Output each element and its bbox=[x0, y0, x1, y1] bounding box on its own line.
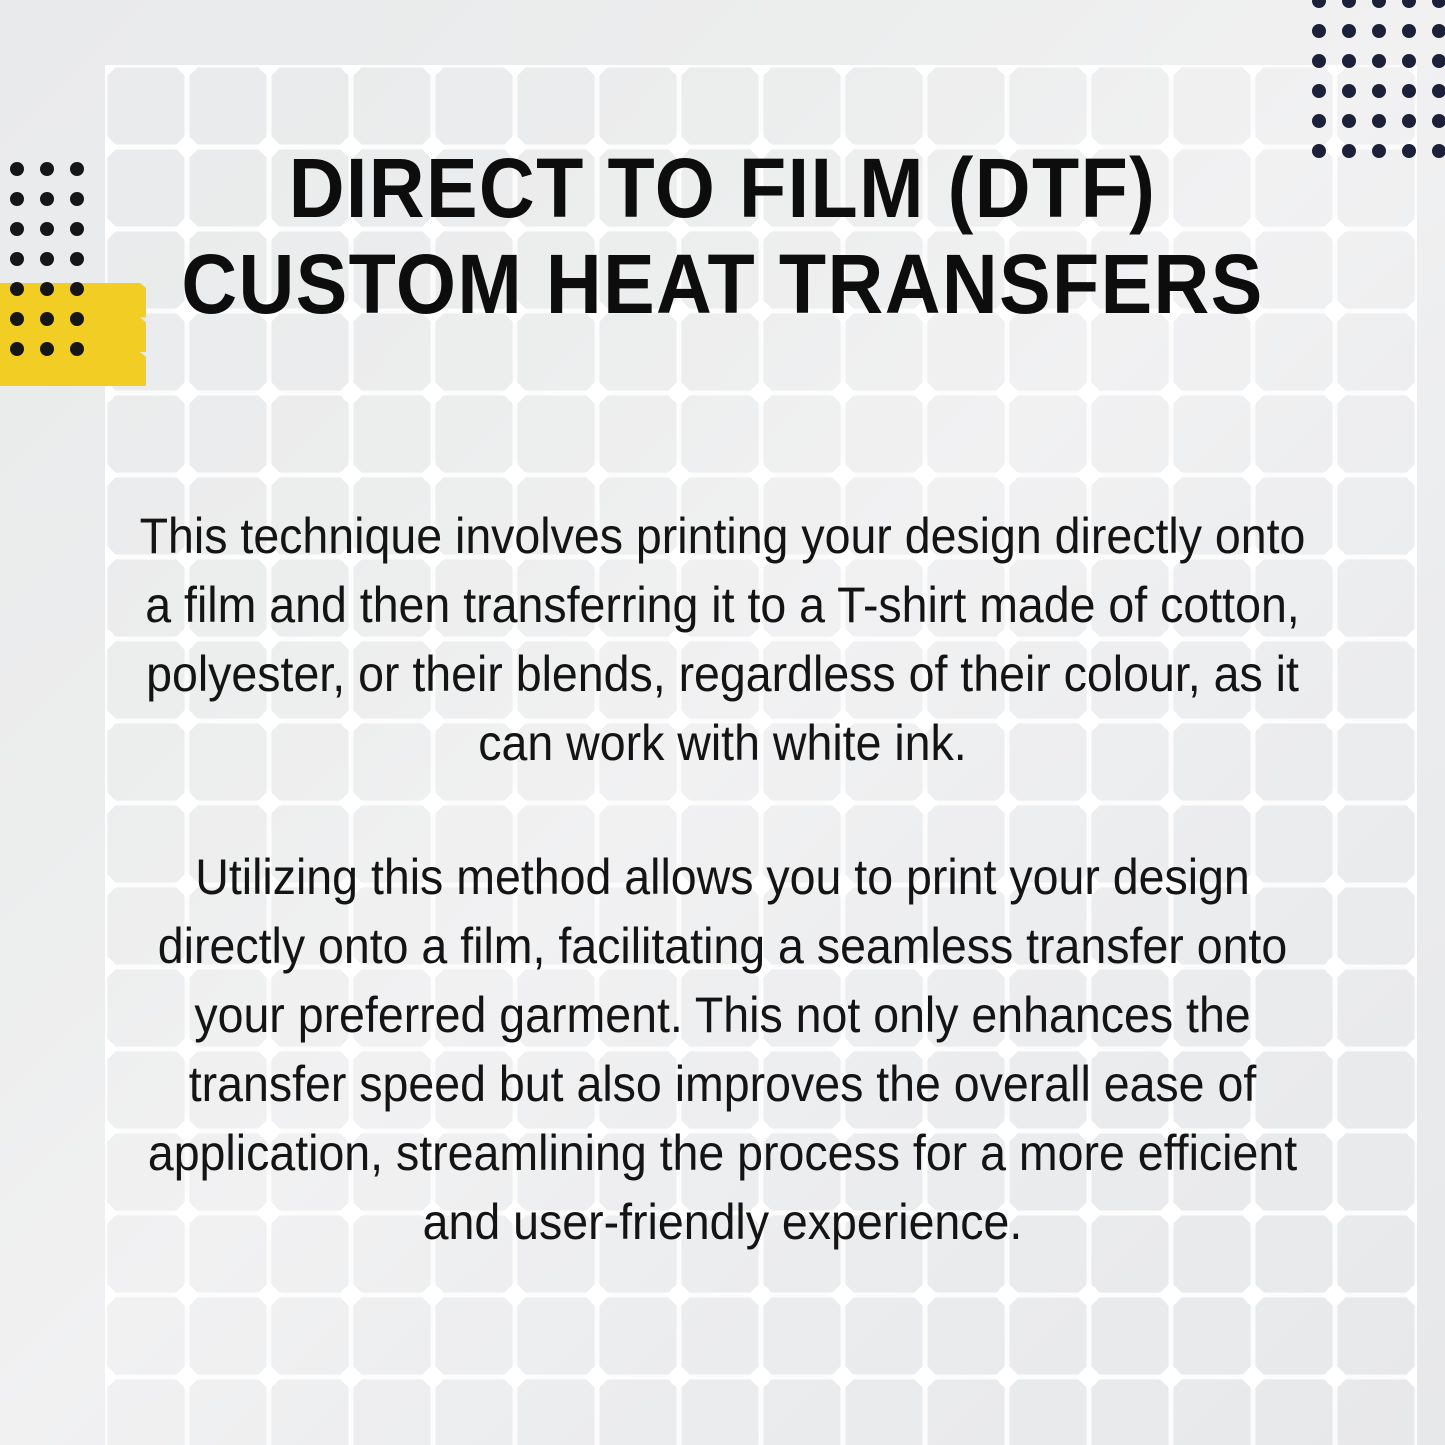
poster-content: DIRECT TO FILM (DTF) CUSTOM HEAT TRANSFE… bbox=[0, 0, 1445, 1445]
paragraph-2: Utilizing this method allows you to prin… bbox=[139, 843, 1306, 1257]
title-line-2: CUSTOM HEAT TRANSFERS bbox=[168, 236, 1277, 332]
paragraph-1: This technique involves printing your de… bbox=[139, 502, 1306, 778]
page-title: DIRECT TO FILM (DTF) CUSTOM HEAT TRANSFE… bbox=[120, 140, 1325, 332]
poster-canvas: DIRECT TO FILM (DTF) CUSTOM HEAT TRANSFE… bbox=[0, 0, 1445, 1445]
title-line-1: DIRECT TO FILM (DTF) bbox=[168, 140, 1277, 236]
body-copy: This technique involves printing your de… bbox=[95, 452, 1350, 1307]
